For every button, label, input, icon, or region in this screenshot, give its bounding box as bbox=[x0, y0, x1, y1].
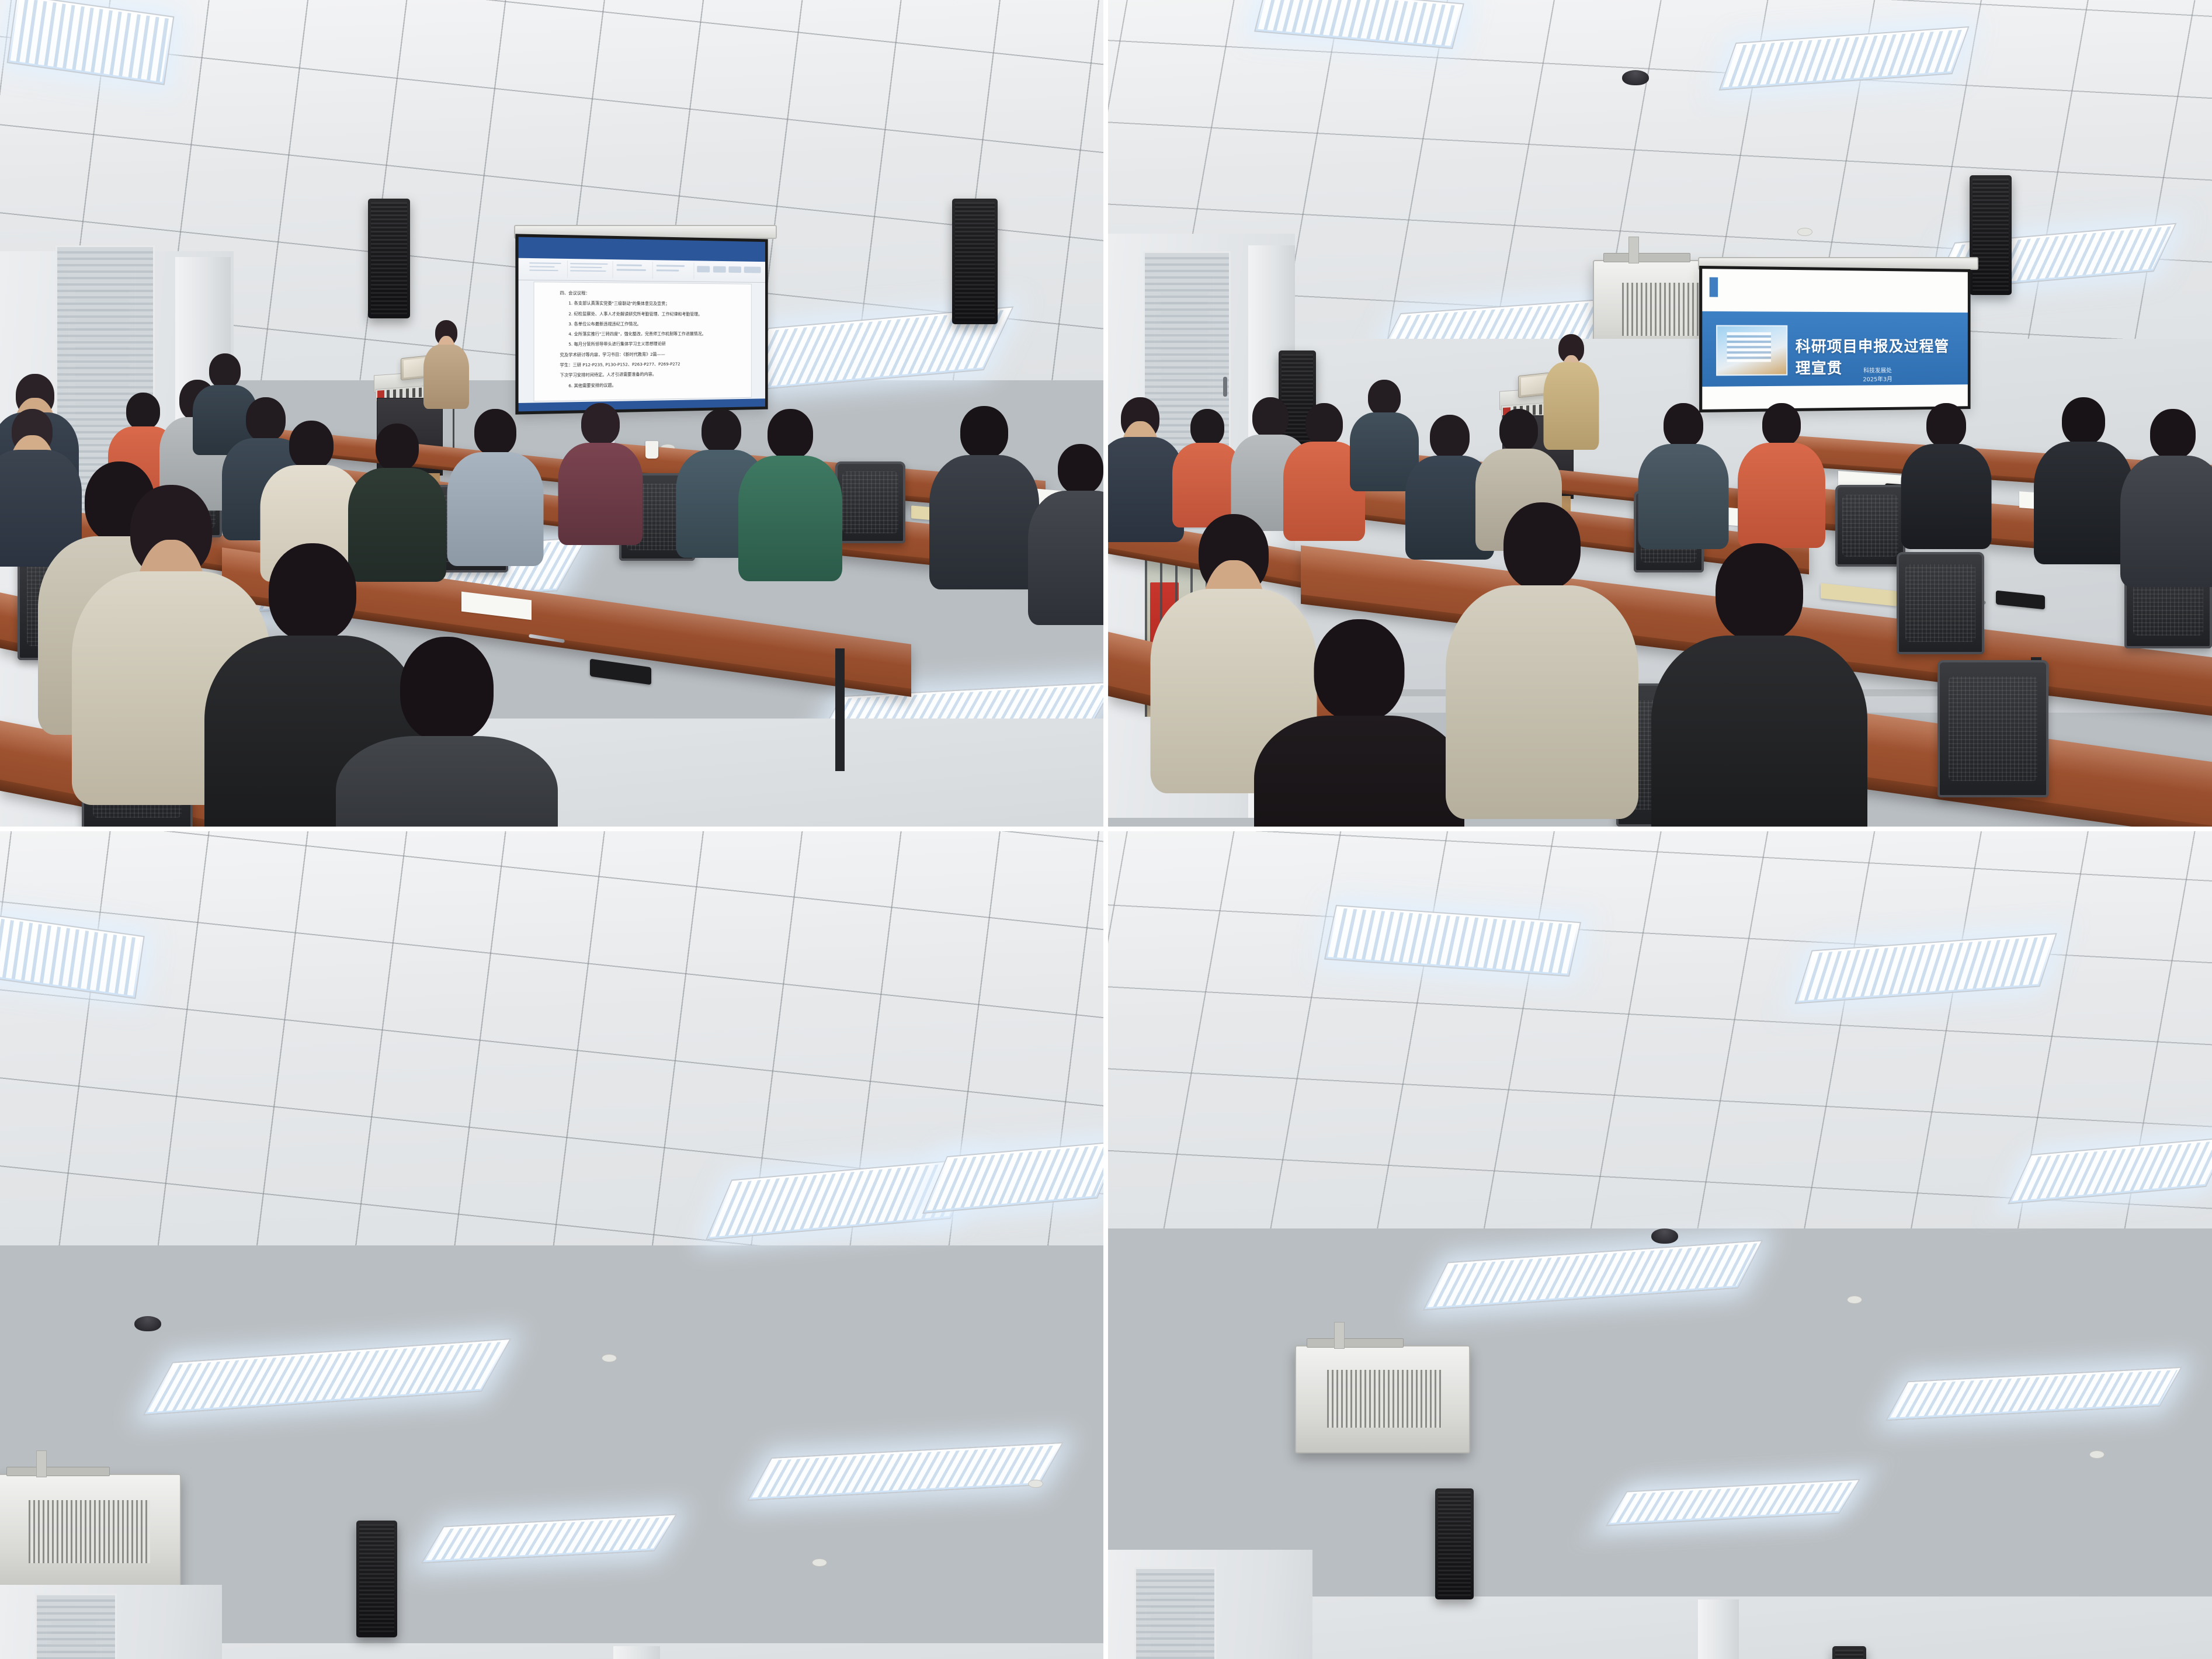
head bbox=[126, 393, 160, 430]
presenter-body bbox=[1544, 362, 1599, 450]
head bbox=[1368, 380, 1401, 416]
sprinkler-icon bbox=[812, 1559, 827, 1567]
photo-collage-2x2: 四、会议议程： 1. 各支部认真落实党委"三级联动"的集体意见及宣贯； 2. 纪… bbox=[0, 0, 2212, 1659]
ceiling-lamp bbox=[1885, 1367, 2182, 1421]
doc-line: 6. 其他需要安排的议题。 bbox=[560, 380, 732, 390]
audience-member bbox=[2048, 397, 2119, 543]
torso bbox=[336, 736, 558, 827]
head bbox=[960, 406, 1008, 459]
head bbox=[768, 409, 813, 459]
word-ribbon bbox=[519, 258, 765, 283]
slide-research-project: 科研项目申报及过程管理宣贯 科技发展处 2025年3月 bbox=[1702, 269, 1968, 409]
smoke-detector-icon bbox=[134, 1316, 161, 1331]
torso bbox=[447, 452, 543, 566]
head bbox=[2150, 409, 2196, 459]
doc-line: 4. 全所落实推行"三转四度"，强化整改，完善师工作机制等工作进展情况。 bbox=[560, 330, 732, 338]
doc-line: 学生：三研 P12-P235, P130-P152、P263-P277、P269… bbox=[560, 360, 732, 369]
projection-screen: 四、会议议程： 1. 各支部认真落实党委"三级联动"的集体意见及宣贯； 2. 纪… bbox=[515, 234, 768, 414]
ceiling-lamp bbox=[421, 1514, 678, 1564]
wall-speaker bbox=[1832, 1646, 1866, 1659]
torso bbox=[1901, 444, 1992, 549]
audience-member bbox=[0, 409, 70, 555]
audience-member bbox=[1482, 502, 1602, 806]
torso bbox=[1254, 716, 1464, 827]
head bbox=[1058, 444, 1103, 494]
word-doc-title bbox=[600, 241, 602, 245]
audience-member bbox=[1295, 403, 1353, 523]
slide-subtitle-line: 2025年3月 bbox=[1811, 374, 1942, 384]
audience-member bbox=[1914, 403, 1978, 529]
audience-member bbox=[946, 406, 1022, 570]
head bbox=[474, 409, 516, 456]
ceiling-projector bbox=[0, 1474, 181, 1591]
ceiling-lamp bbox=[747, 1442, 1064, 1501]
collage-divider-vertical bbox=[1103, 0, 1108, 827]
panel-bottom-right: 中国科学院成都生物研究所 中国科学院成都生物研究所 工作人员兼职管理实施细则 人… bbox=[1108, 831, 2212, 1659]
torso bbox=[1651, 636, 1867, 827]
panel-top-left: 四、会议议程： 1. 各支部认真落实党委"三级联动"的集体意见及宣贯； 2. 纪… bbox=[0, 0, 1103, 827]
sprinkler-icon bbox=[1847, 1296, 1862, 1304]
doc-line: 下次学习安排时间待定。人才引进需要准备的内容。 bbox=[560, 370, 732, 380]
paper-cup bbox=[645, 441, 658, 459]
doc-line: 3. 各单位公布最新违规违纪工作情况。 bbox=[560, 320, 732, 328]
head bbox=[376, 424, 419, 471]
wall-speaker bbox=[356, 1521, 397, 1637]
audience-member bbox=[1751, 403, 1812, 529]
ribbon-group bbox=[613, 261, 653, 279]
audience-member bbox=[1108, 397, 1172, 532]
projector-mount-plate bbox=[6, 1467, 110, 1476]
head bbox=[1252, 397, 1289, 438]
wall-pillar bbox=[1698, 1599, 1739, 1659]
head bbox=[269, 543, 356, 641]
presenter bbox=[1552, 334, 1591, 451]
desk-leg bbox=[835, 648, 845, 771]
collage-divider-vertical bbox=[1103, 827, 1108, 831]
sprinkler-icon bbox=[2089, 1450, 2105, 1459]
torso bbox=[738, 456, 842, 581]
wall-speaker bbox=[1970, 175, 2012, 295]
ceiling-lamp bbox=[1606, 1479, 1860, 1526]
doc-line: 究及学术研讨等内容，学习书目：《新时代教育》2篇—— bbox=[560, 350, 732, 359]
head bbox=[1503, 502, 1581, 590]
head bbox=[1305, 403, 1343, 445]
audience-member bbox=[570, 403, 631, 526]
head bbox=[702, 409, 741, 453]
smoke-detector-icon bbox=[1622, 70, 1649, 85]
slide-accent-tab bbox=[1709, 277, 1718, 297]
ribbon-group bbox=[568, 261, 613, 279]
wall-speaker bbox=[952, 199, 998, 324]
panel-top-right: 科研项目申报及过程管理宣贯 科技发展处 2025年3月 bbox=[1108, 0, 2212, 827]
projector-vent bbox=[29, 1500, 151, 1563]
presenter-body bbox=[423, 345, 469, 409]
ribbon-group bbox=[526, 260, 568, 278]
projector-vent bbox=[1327, 1370, 1441, 1428]
window bbox=[35, 1594, 117, 1659]
torso bbox=[2120, 456, 2212, 587]
chair bbox=[1835, 485, 1905, 567]
torso bbox=[1446, 585, 1638, 819]
projector-mount-plate bbox=[1307, 1338, 1404, 1348]
torso bbox=[929, 455, 1039, 589]
wall-speaker bbox=[368, 199, 410, 318]
audience-member bbox=[1418, 415, 1482, 540]
audience-member bbox=[275, 421, 348, 561]
projection-screen: 科研项目申报及过程管理宣贯 科技发展处 2025年3月 bbox=[1699, 266, 1970, 412]
head bbox=[2062, 397, 2105, 445]
head bbox=[289, 421, 334, 470]
audience-member bbox=[1046, 444, 1103, 608]
doc-line: 1. 各支部认真落实党委"三级联动"的集体意见及宣贯； bbox=[560, 300, 732, 308]
projector-mount-arm bbox=[1334, 1322, 1345, 1349]
ceiling-lamp bbox=[1423, 1240, 1763, 1311]
head bbox=[1716, 543, 1803, 641]
head bbox=[400, 637, 494, 742]
smartphone bbox=[590, 659, 651, 685]
window bbox=[1134, 1567, 1216, 1659]
word-document-page: 四、会议议程： 1. 各支部认真落实党委"三级联动"的集体意见及宣贯； 2. 纪… bbox=[534, 283, 751, 401]
building-thumbnail bbox=[1716, 325, 1787, 375]
ribbon-group bbox=[653, 262, 694, 279]
head bbox=[581, 403, 620, 445]
chair bbox=[835, 461, 905, 543]
head bbox=[1430, 415, 1470, 459]
audience-member bbox=[374, 637, 520, 827]
panel-bottom-left: 加强考勤工作纪律宣讲 人事人才处 （2025年3月） bbox=[0, 831, 1103, 1659]
audience-member bbox=[362, 424, 432, 561]
sprinkler-icon bbox=[1028, 1480, 1043, 1488]
ceiling-projector bbox=[1295, 1345, 1470, 1453]
doc-line: 四、会议议程： bbox=[560, 289, 732, 298]
window-blind bbox=[37, 1595, 115, 1659]
head bbox=[209, 353, 241, 388]
wall-speaker bbox=[1435, 1488, 1474, 1599]
head bbox=[1664, 403, 1703, 447]
slide-subtitle-line: 科技发展处 bbox=[1811, 366, 1942, 376]
collage-divider-horizontal bbox=[1108, 827, 2212, 831]
head bbox=[1926, 403, 1966, 447]
wall-pillar bbox=[613, 1646, 660, 1659]
ceiling-lamp bbox=[143, 1338, 512, 1415]
ribbon-group bbox=[694, 262, 765, 280]
torso bbox=[2034, 442, 2133, 564]
audience-member bbox=[1651, 403, 1716, 529]
collage-divider-horizontal bbox=[0, 827, 1103, 831]
sprinkler-icon bbox=[602, 1354, 617, 1362]
audience-member bbox=[1289, 619, 1429, 827]
torso bbox=[1738, 443, 1825, 548]
sprinkler-icon bbox=[1797, 228, 1812, 236]
audience-member bbox=[1359, 380, 1409, 479]
presenter bbox=[429, 320, 463, 408]
head bbox=[1762, 403, 1801, 446]
slide-subtitle: 科技发展处 2025年3月 bbox=[1811, 366, 1942, 384]
audience-member bbox=[753, 409, 827, 561]
chair bbox=[1937, 660, 2048, 797]
slide-word-document: 四、会议议程： 1. 各支部认真落实党委"三级联动"的集体意见及宣贯； 2. 纪… bbox=[519, 237, 765, 412]
projector-mount-plate bbox=[1603, 253, 1690, 262]
audience-member bbox=[1178, 514, 1289, 771]
projector-mount-arm bbox=[36, 1450, 47, 1477]
collage-divider-vertical bbox=[1103, 831, 1108, 1659]
projector-mount-arm bbox=[1628, 237, 1639, 263]
wall-back bbox=[1283, 1596, 2212, 1659]
doc-line: 5. 每月分管所领导带头进行集体学习主义思想理论研 bbox=[560, 340, 732, 349]
head bbox=[1499, 409, 1538, 452]
torso bbox=[1028, 491, 1103, 625]
window-handle-icon bbox=[1223, 377, 1227, 397]
torso bbox=[558, 443, 643, 545]
audience-member bbox=[1181, 409, 1234, 514]
smoke-detector-icon bbox=[1651, 1228, 1678, 1244]
torso bbox=[1638, 444, 1729, 549]
head bbox=[1190, 409, 1224, 446]
head bbox=[1314, 619, 1405, 721]
audience-member bbox=[1692, 543, 1826, 827]
audience-member bbox=[2136, 409, 2209, 567]
window-blind bbox=[1136, 1569, 1214, 1659]
chair bbox=[1897, 552, 1984, 654]
doc-line: 2. 纪检监察处、人事人才处解读研究所考勤管理、工作纪律和考勤管理。 bbox=[560, 310, 732, 318]
audience-member bbox=[461, 409, 529, 546]
